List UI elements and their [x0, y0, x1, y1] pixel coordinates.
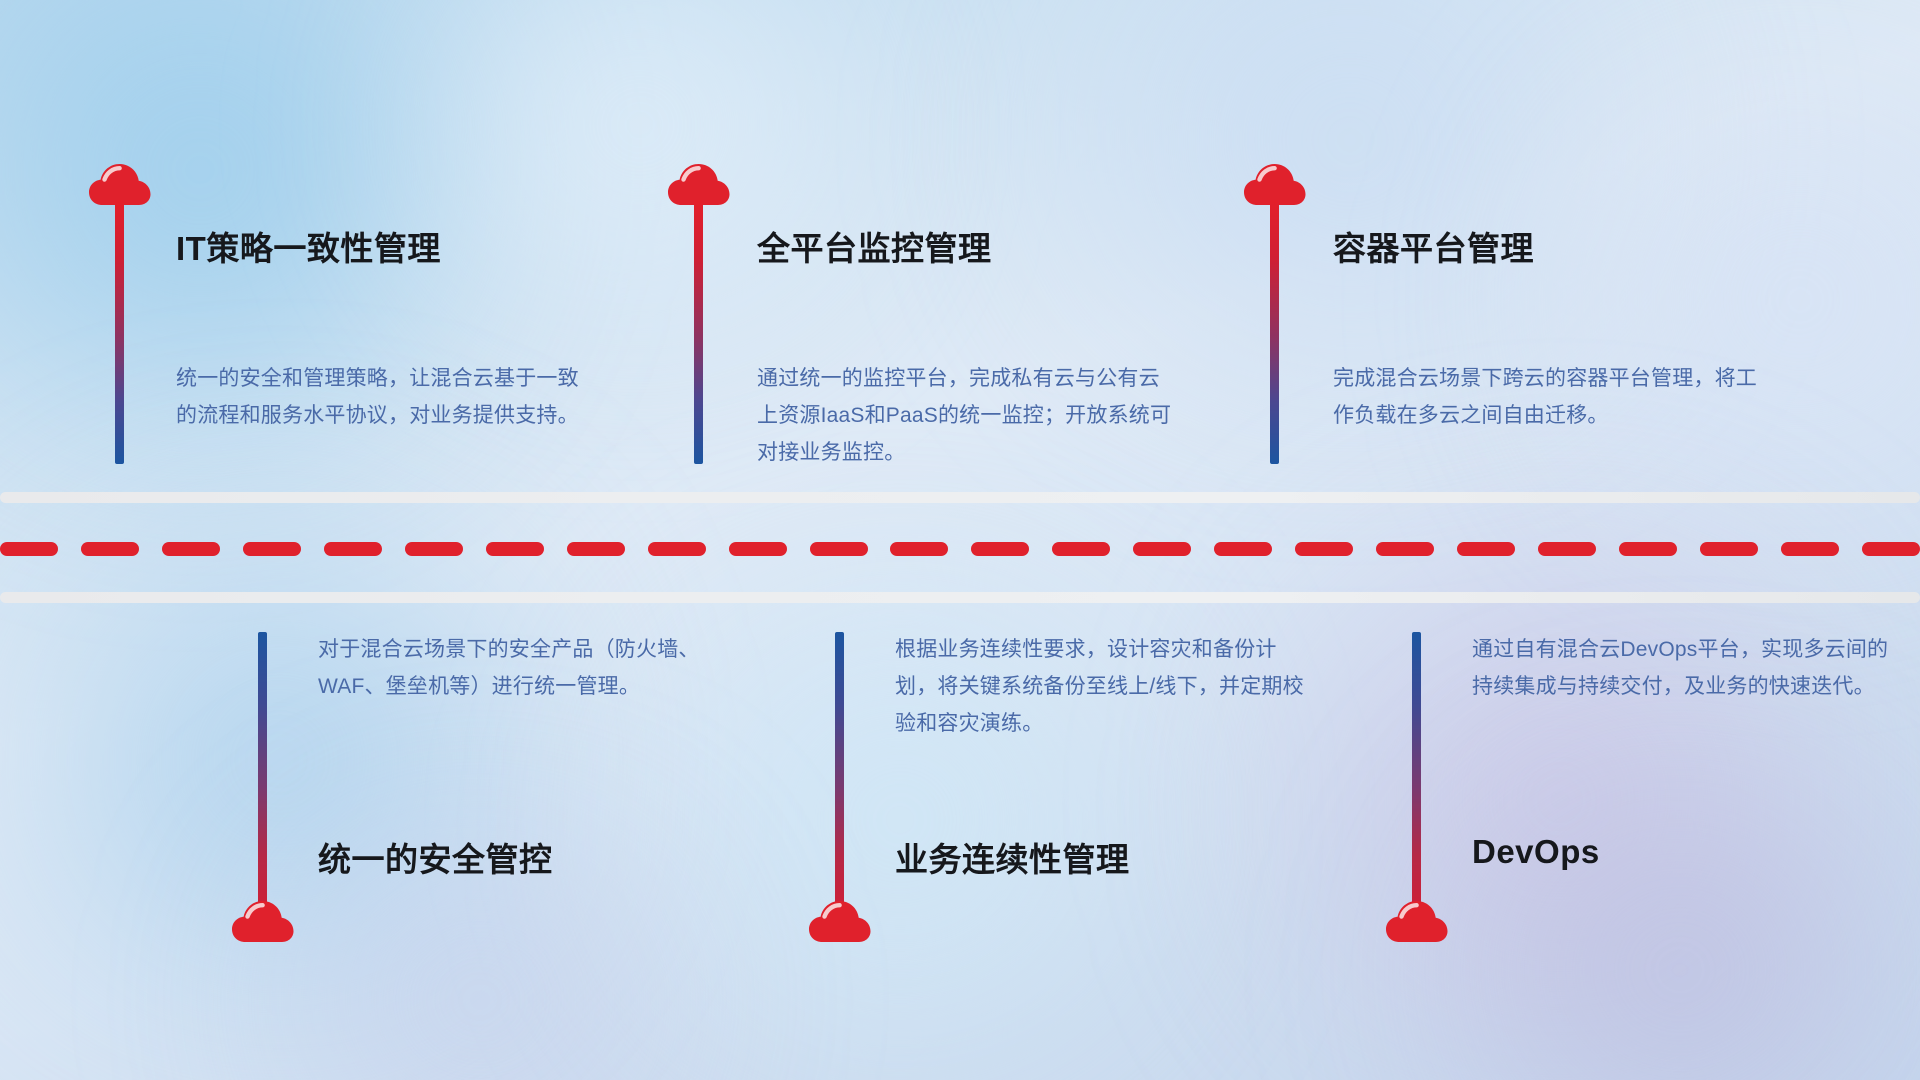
divider-dash-segment — [567, 542, 625, 556]
divider-dash-segment — [1538, 542, 1596, 556]
marker-stem — [115, 200, 124, 464]
card-description: 统一的安全和管理策略，让混合云基于一致的流程和服务水平协议，对业务提供支持。 — [176, 360, 596, 434]
card-description: 通过统一的监控平台，完成私有云与公有云上资源IaaS和PaaS的统一监控；开放系… — [757, 360, 1177, 471]
card-title: 全平台监控管理 — [757, 222, 992, 270]
card-description: 对于混合云场景下的安全产品（防火墙、WAF、堡垒机等）进行统一管理。 — [318, 631, 738, 705]
card-title: 业务连续性管理 — [895, 833, 1130, 881]
divider-dash-segment — [1700, 542, 1758, 556]
marker-stem — [835, 632, 844, 912]
divider-dash-segment — [324, 542, 382, 556]
marker-stem — [258, 632, 267, 912]
card-title: 统一的安全管控 — [318, 833, 553, 881]
cloud-icon — [1385, 898, 1449, 944]
infographic-canvas: IT策略一致性管理 统一的安全和管理策略，让混合云基于一致的流程和服务水平协议，… — [0, 0, 1920, 1080]
divider-dash-segment — [486, 542, 544, 556]
divider-dash-segment — [729, 542, 787, 556]
marker-stem — [1412, 632, 1421, 912]
divider-dash-segment — [1376, 542, 1434, 556]
marker-stem — [1270, 200, 1279, 464]
divider-dash-segment — [648, 542, 706, 556]
divider-dash-segment — [81, 542, 139, 556]
divider-dash-segment — [243, 542, 301, 556]
divider-dash-segment — [1295, 542, 1353, 556]
divider-dash-segment — [0, 542, 58, 556]
marker-stem — [694, 200, 703, 464]
divider-dash-segment — [1862, 542, 1920, 556]
card-description: 根据业务连续性要求，设计容灾和备份计划，将关键系统备份至线上/线下，并定期校验和… — [895, 631, 1315, 742]
divider-dashed-line — [0, 542, 1920, 556]
cloud-icon — [231, 898, 295, 944]
divider-dash-segment — [1619, 542, 1677, 556]
card-title: DevOps — [1472, 833, 1600, 871]
divider-dash-segment — [810, 542, 868, 556]
divider-dash-segment — [890, 542, 948, 556]
card-title: 容器平台管理 — [1333, 222, 1534, 270]
divider-dash-segment — [1214, 542, 1272, 556]
card-title: IT策略一致性管理 — [176, 222, 441, 270]
divider-dash-segment — [405, 542, 463, 556]
divider-dash-segment — [1052, 542, 1110, 556]
divider-dash-segment — [1457, 542, 1515, 556]
divider-dash-segment — [1781, 542, 1839, 556]
card-description: 通过自有混合云DevOps平台，实现多云间的持续集成与持续交付，及业务的快速迭代… — [1472, 631, 1892, 705]
divider-dash-segment — [1133, 542, 1191, 556]
divider-dash-segment — [162, 542, 220, 556]
cloud-icon — [808, 898, 872, 944]
card-description: 完成混合云场景下跨云的容器平台管理，将工作负载在多云之间自由迁移。 — [1333, 360, 1763, 434]
divider-rail-top — [0, 492, 1920, 503]
divider-dash-segment — [971, 542, 1029, 556]
divider-rail-bottom — [0, 592, 1920, 603]
